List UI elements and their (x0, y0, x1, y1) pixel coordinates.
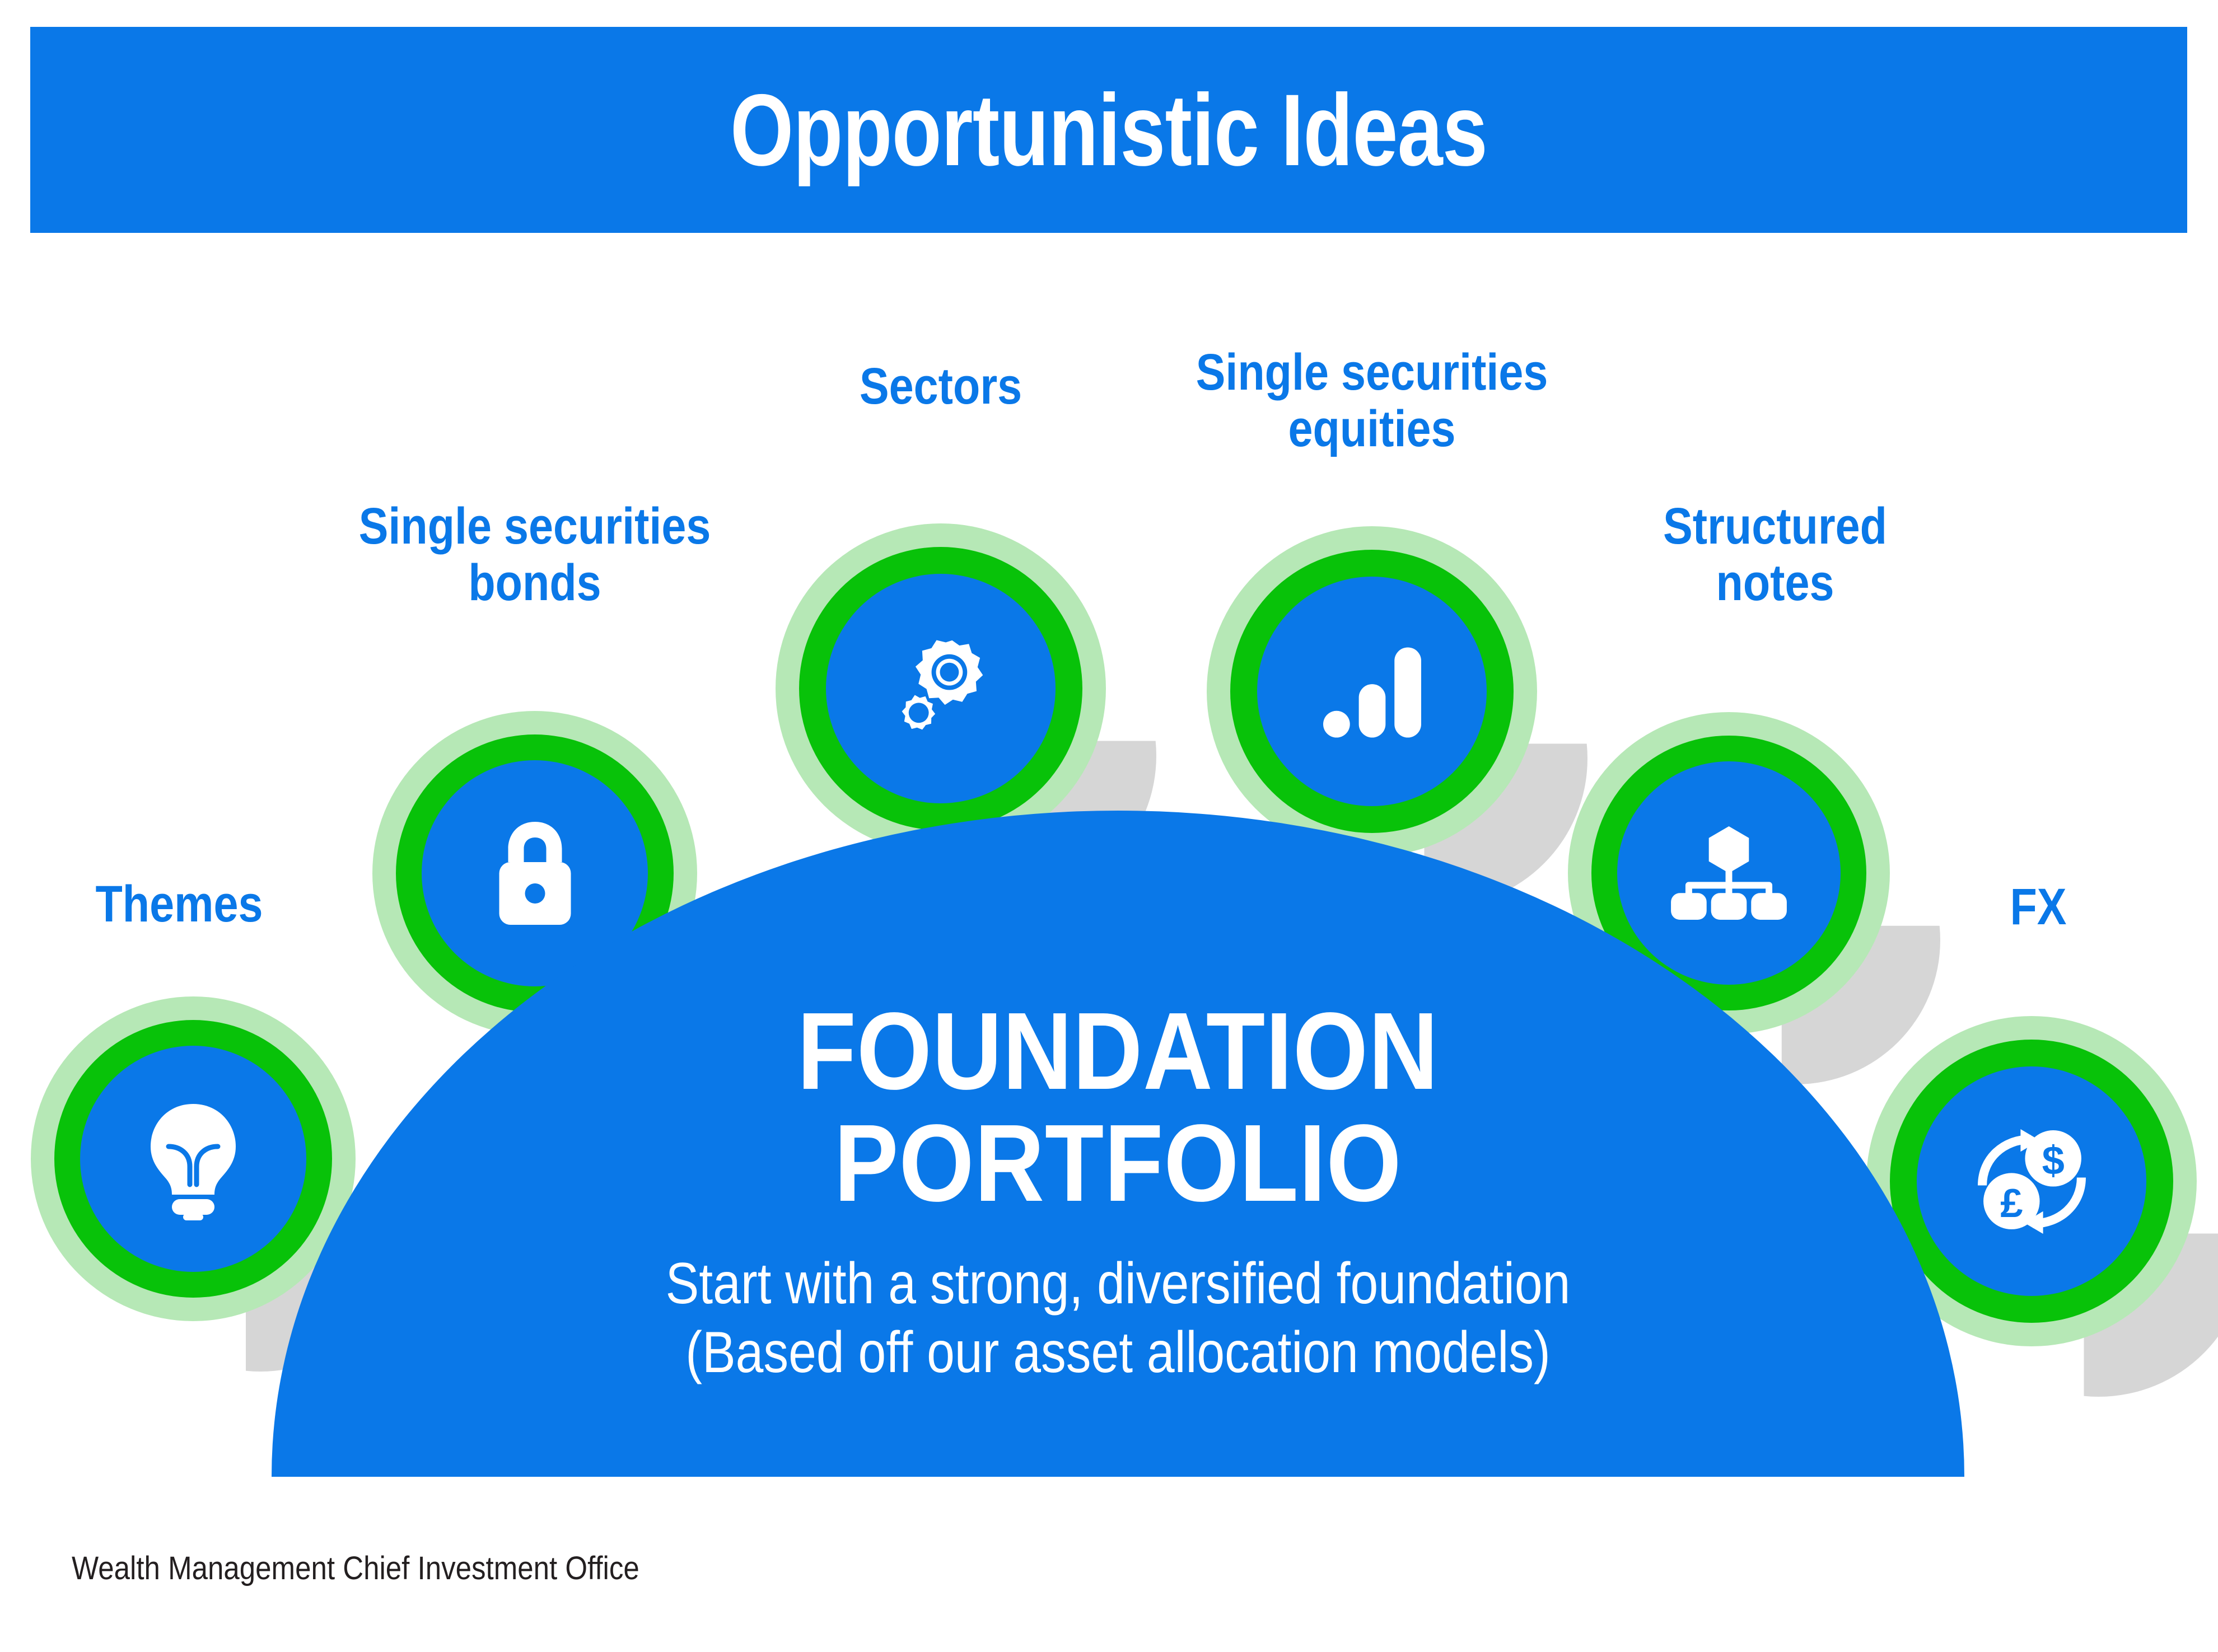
node-disc (826, 574, 1056, 803)
lock-icon (483, 817, 587, 929)
dome-title-line-2: PORTFOLIO (373, 1107, 1862, 1219)
node-label-themes: Themes (35, 876, 324, 933)
node-label-sectors: Sectors (753, 358, 1129, 415)
node-label-single-securities-bonds: Single securities bonds (268, 498, 802, 611)
dome-subtitle-line-1: Start with a strong, diversified foundat… (390, 1249, 1846, 1318)
node-label-fx: FX (1918, 879, 2159, 935)
page-title: Opportunistic Ideas (730, 79, 1487, 181)
svg-text:$: $ (2042, 1138, 2064, 1183)
node-single-securities-equities[interactable] (1207, 526, 1537, 857)
svg-text:£: £ (2000, 1181, 2023, 1225)
node-disc (1257, 577, 1487, 806)
gears-icon (881, 631, 1001, 746)
node-sectors[interactable] (776, 523, 1106, 854)
header-bar: Opportunistic Ideas (30, 27, 2187, 233)
dome-subtitle: Start with a strong, diversified foundat… (272, 1249, 1964, 1387)
bar-chart-icon (1323, 644, 1421, 739)
node-disc (1617, 761, 1841, 985)
node-label-structured-notes: Structured notes (1558, 498, 1992, 611)
currency-exchange-icon: $ £ (1974, 1127, 2089, 1236)
hierarchy-icon (1669, 824, 1789, 922)
dome-content: FOUNDATION PORTFOLIO Start with a strong… (272, 995, 1964, 1387)
slide-canvas: Opportunistic Ideas Themes (0, 0, 2218, 1652)
dome-title-line-1: FOUNDATION (373, 995, 1862, 1107)
node-label-single-securities-equities: Single securities equities (1107, 344, 1637, 457)
lightbulb-icon (137, 1097, 249, 1220)
dome-subtitle-line-2: (Based off our asset allocation models) (390, 1318, 1846, 1387)
footer-note: Wealth Management Chief Investment Offic… (72, 1550, 639, 1587)
